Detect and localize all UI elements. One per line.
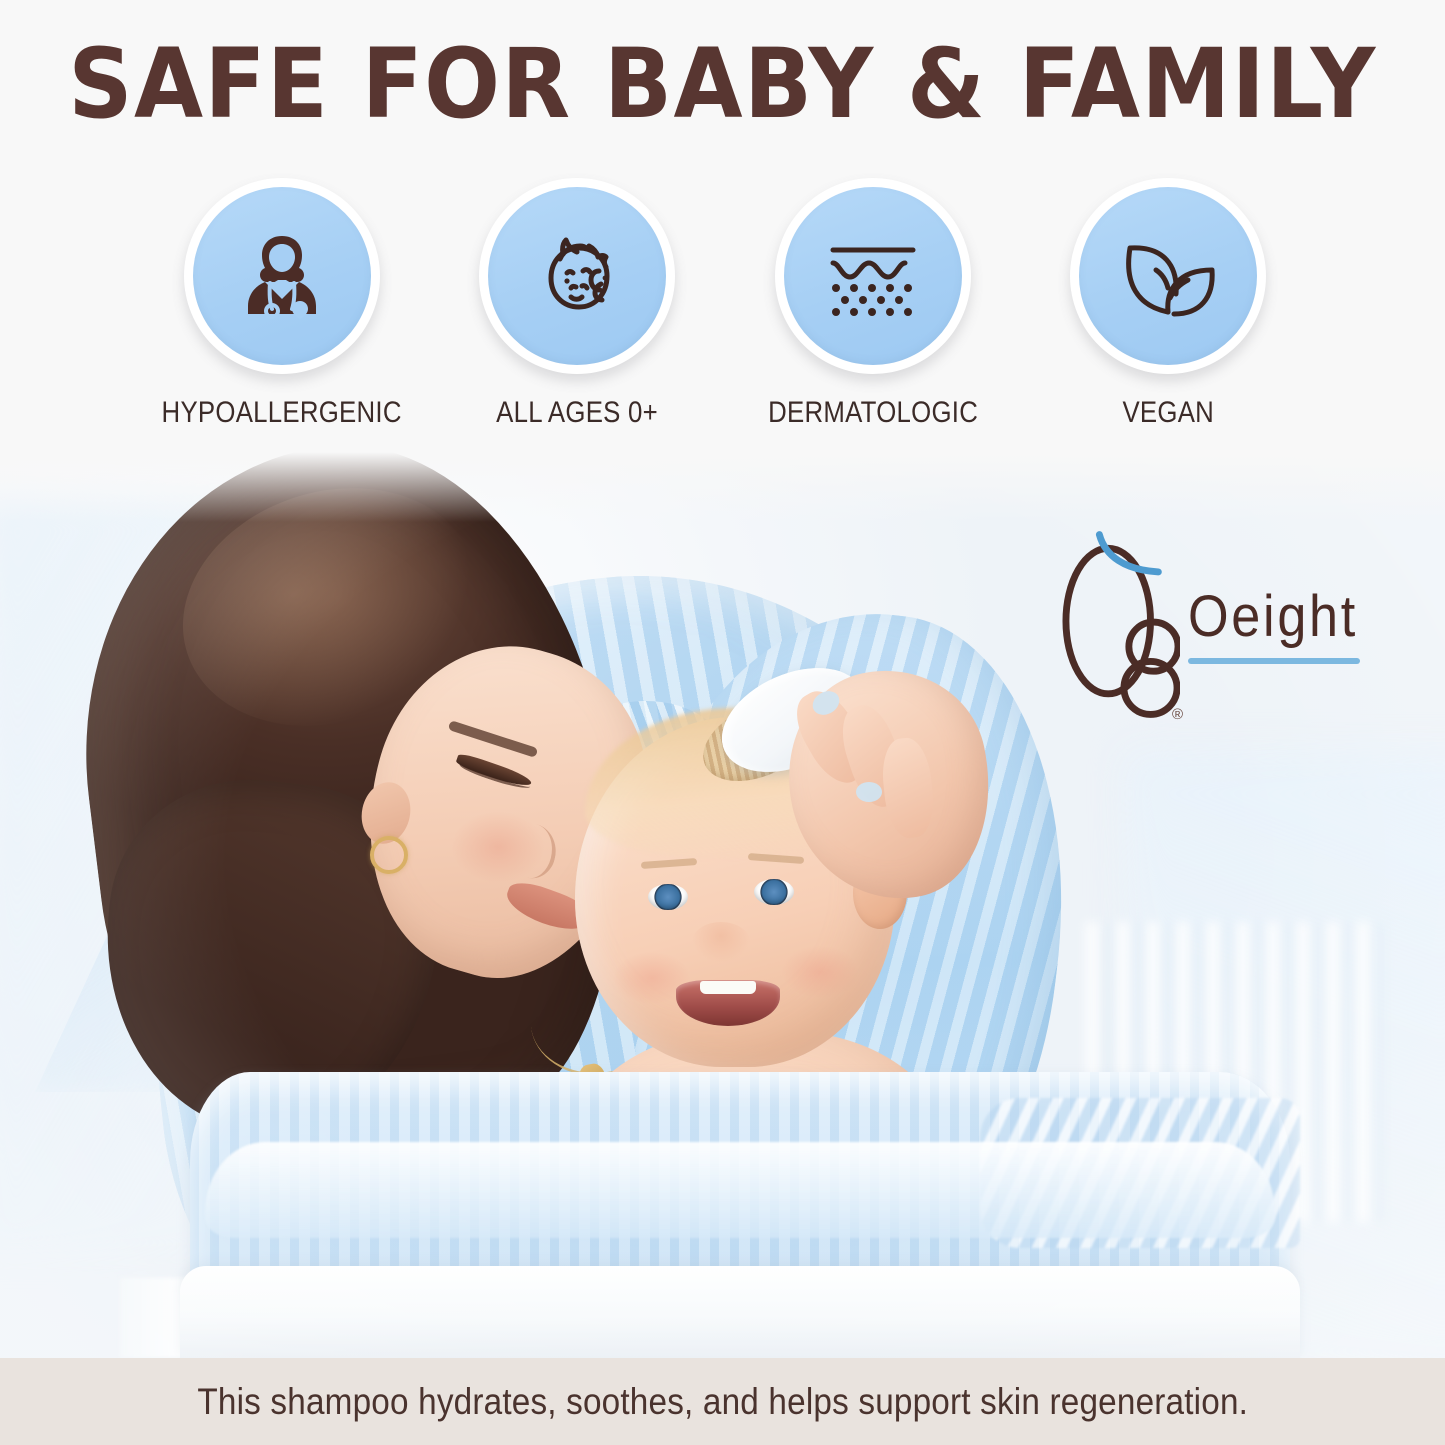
fingernail [856, 782, 882, 802]
page-title: SAFE FOR BABY & FAMILY [51, 34, 1395, 134]
feature-badge-row: HYPOALLERGENIC [176, 178, 1274, 448]
caption-bar: This shampoo hydrates, soothes, and help… [0, 1358, 1445, 1445]
skin-layers-icon [821, 226, 925, 326]
changing-table [180, 1266, 1300, 1358]
badge-dermatologic[interactable]: DERMATOLOGIC [767, 178, 979, 448]
badge-circle-hypoallergenic [184, 178, 380, 374]
doctor-icon [232, 226, 332, 326]
badge-label: DERMATOLOGIC [768, 396, 978, 430]
badge-circle-dermatologic [775, 178, 971, 374]
badge-circle-all-ages [479, 178, 675, 374]
earring [370, 836, 408, 874]
badge-vegan[interactable]: VEGAN [1062, 178, 1274, 448]
badge-label: ALL AGES 0+ [496, 396, 658, 430]
registered-trademark-mark: ® [1172, 706, 1183, 723]
logo-wordmark: Oeight [1188, 586, 1358, 648]
oeight-egg-mark [1062, 525, 1180, 725]
baby-eye [754, 879, 794, 905]
badge-hypoallergenic[interactable]: HYPOALLERGENIC [176, 178, 388, 448]
badge-label: VEGAN [1122, 396, 1214, 430]
brand-logo[interactable]: Oeight ® [1062, 520, 1372, 730]
caption-text: This shampoo hydrates, soothes, and help… [197, 1381, 1248, 1423]
baby-eye [648, 884, 688, 910]
product-infographic: SAFE FOR BABY & FAMILY [0, 0, 1445, 1445]
badge-circle-vegan [1070, 178, 1266, 374]
baby-face-icon [527, 226, 627, 326]
logo-underline [1188, 658, 1360, 664]
badge-all-ages[interactable]: ALL AGES 0+ [471, 178, 683, 448]
leaves-icon [1116, 226, 1220, 326]
badge-label: HYPOALLERGENIC [162, 396, 402, 430]
